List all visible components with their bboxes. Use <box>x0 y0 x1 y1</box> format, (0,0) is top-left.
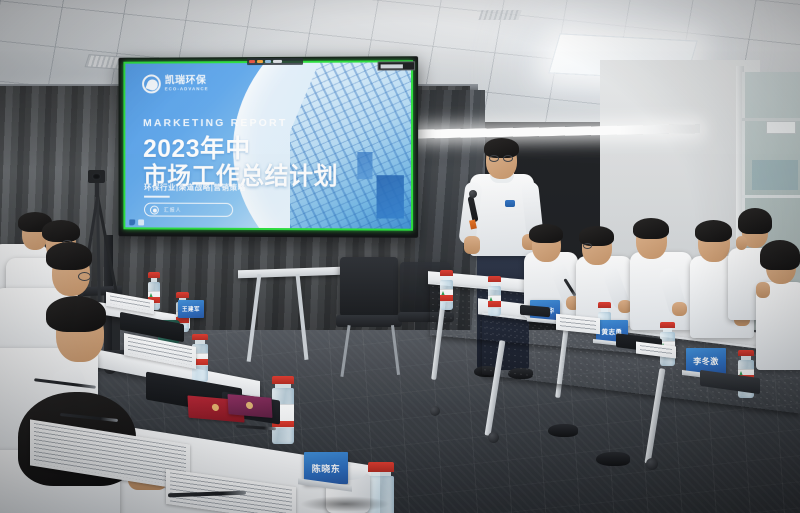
placard-name: 李冬激 <box>693 356 719 367</box>
table-caster <box>430 406 440 416</box>
logo-swoosh-icon <box>142 74 161 93</box>
taskbar-icon <box>138 219 144 225</box>
object-shadow <box>300 496 390 512</box>
table-caster <box>488 432 499 443</box>
bottle-body <box>488 286 501 316</box>
pointer-icon[interactable] <box>265 60 271 64</box>
bottle-body <box>440 280 453 310</box>
chair-backrest[interactable] <box>340 257 398 317</box>
attendee-hand <box>672 302 687 316</box>
water-bottle[interactable] <box>488 276 501 316</box>
attendee-hair <box>46 296 106 332</box>
more-options-icon[interactable] <box>273 60 282 64</box>
logo-english-name: ECO-ADVANCE <box>165 87 209 92</box>
label-leaf-icon <box>441 291 445 296</box>
meeting-room-scene: 凯瑞环保 ECO-ADVANCE MARKETING REPORT 2023年中… <box>0 0 800 513</box>
attendee-hair <box>46 242 92 270</box>
presentation-display[interactable]: 凯瑞环保 ECO-ADVANCE MARKETING REPORT 2023年中… <box>119 56 419 238</box>
label-leaf-icon <box>149 293 153 298</box>
slide-canvas: 凯瑞环保 ECO-ADVANCE MARKETING REPORT 2023年中… <box>125 62 411 228</box>
record-icon[interactable] <box>249 60 255 64</box>
tripod-neck <box>95 183 99 197</box>
camera-icon <box>88 170 105 183</box>
table-caster <box>646 458 658 470</box>
slide-eyebrow-text: MARKETING REPORT <box>143 117 287 129</box>
screen-overlay-window <box>378 61 416 70</box>
bottle-label <box>440 289 453 302</box>
presenter-glasses <box>503 155 513 162</box>
attendee-hand <box>736 236 747 250</box>
slide-subtitle: 环保行业|渠道战略|营销策略 <box>144 182 246 193</box>
attendee-hair <box>760 240 800 270</box>
paper-text-lines <box>560 317 596 331</box>
attendee-shoe <box>548 424 578 437</box>
presenter-hair <box>484 138 519 158</box>
slide-presenter-label: 汇报人 <box>164 206 182 213</box>
label-leaf-icon <box>489 297 493 302</box>
pill-dot-icon <box>150 205 159 214</box>
attendee-glasses <box>583 243 592 249</box>
attendee-hair <box>633 218 669 239</box>
attendee-shirt <box>630 252 692 330</box>
glass-reflection <box>752 160 798 190</box>
ceiling-air-vent-secondary <box>478 10 521 20</box>
attendee-glasses <box>78 272 91 281</box>
placard-name: 王建军 <box>182 305 200 313</box>
slide-taskbar <box>129 219 144 225</box>
presenter-glasses <box>489 155 499 162</box>
presenter-hand-left <box>464 236 480 254</box>
slide-presenter-pill: 汇报人 <box>144 203 233 217</box>
slide-divider-rule <box>144 196 170 198</box>
attendee-hand <box>756 282 770 298</box>
attendee-hair <box>529 224 563 243</box>
purple-booklet[interactable] <box>228 394 273 418</box>
company-logo: 凯瑞环保 ECO-ADVANCE <box>142 74 209 93</box>
attendee-hair <box>42 220 80 242</box>
logo-chinese-name: 凯瑞环保 <box>165 76 209 86</box>
name-placard: 王建军 <box>178 300 204 318</box>
screen-share-toolbar[interactable] <box>247 58 303 65</box>
wall-sign <box>766 121 796 134</box>
attendee-shoe <box>596 452 630 466</box>
microphone-head-icon <box>469 190 477 198</box>
bottle-label <box>488 295 501 308</box>
attendee-hair <box>695 220 732 242</box>
powerpoint-icon <box>129 219 135 225</box>
polo-chest-logo <box>505 200 515 207</box>
placard-name: 陈晓东 <box>312 462 341 475</box>
annotate-icon[interactable] <box>257 60 263 64</box>
paper-text-lines <box>640 345 672 355</box>
bottle-cap <box>272 376 294 384</box>
attendee-hair <box>738 208 772 234</box>
bottle-cap <box>368 462 394 472</box>
water-bottle[interactable] <box>440 270 453 310</box>
glass-mullion-lower <box>742 195 800 198</box>
